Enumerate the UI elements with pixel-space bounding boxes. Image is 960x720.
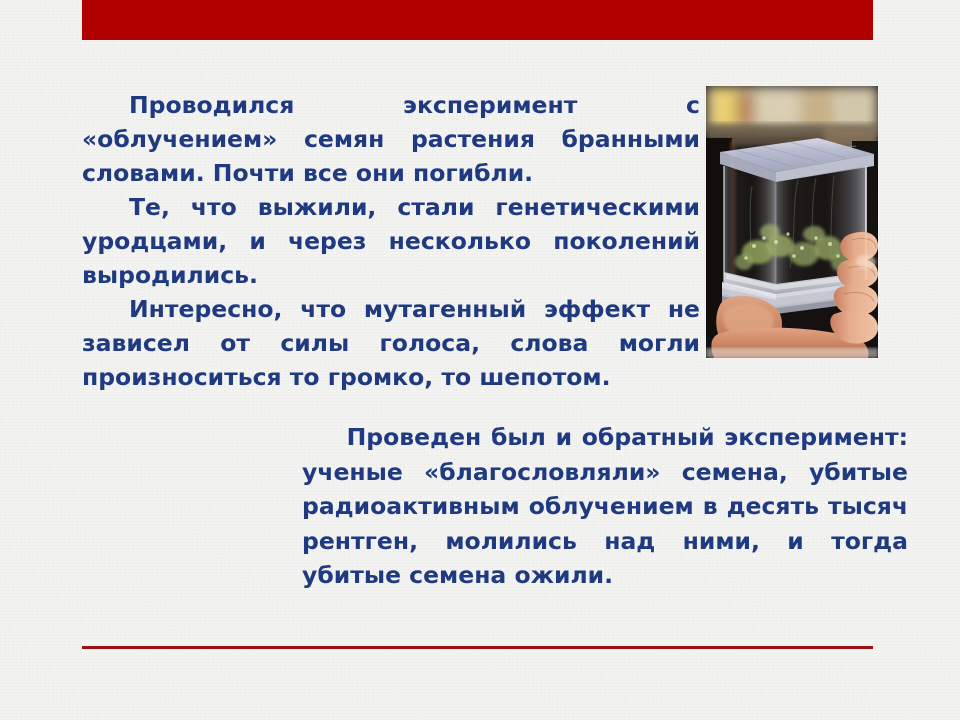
- top-accent-bar: [82, 0, 873, 40]
- plant-container-photo: [706, 86, 878, 358]
- text-block-primary: Проводился эксперимент с «облучением» се…: [82, 88, 700, 394]
- bottom-divider-rule: [82, 646, 873, 649]
- paragraph: Проводился эксперимент с «облучением» се…: [82, 88, 700, 190]
- paragraph: Интересно, что мутагенный эффект не зави…: [82, 292, 700, 394]
- paragraph: Те, что выжили, стали генетическими урод…: [82, 190, 700, 292]
- text-block-secondary: Проведен был и обратный эксперимент: уче…: [302, 420, 908, 593]
- slide-canvas: Проводился эксперимент с «облучением» се…: [0, 0, 960, 720]
- paragraph: Проведен был и обратный эксперимент: уче…: [302, 420, 908, 593]
- plant-container-photo-illustration: [706, 86, 878, 358]
